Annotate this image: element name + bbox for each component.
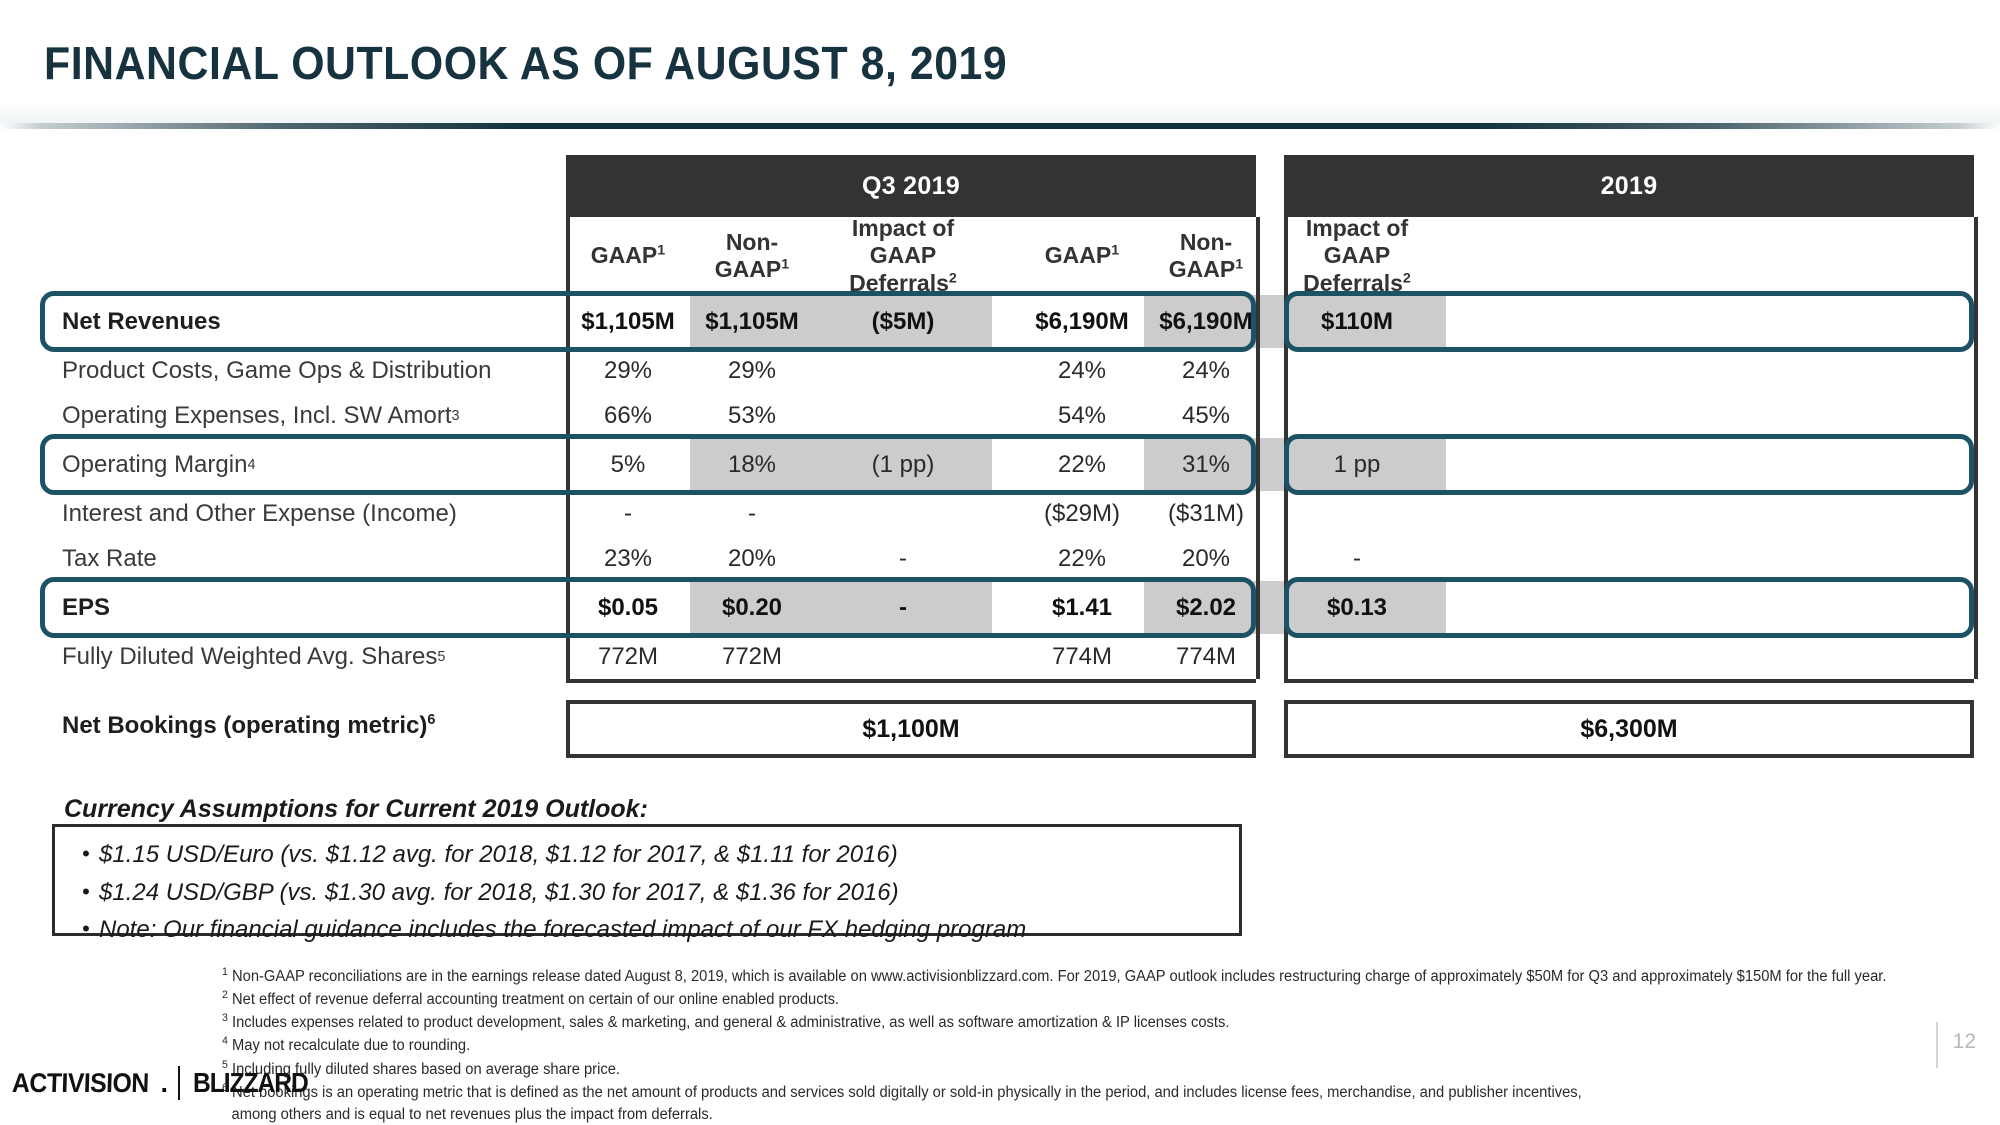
currency-assumption-text: Note: Our financial guidance includes th… [99, 914, 1026, 946]
page-number: 12 [1953, 1030, 1976, 1054]
net-bookings-label-text: Net Bookings (operating metric) [62, 712, 427, 739]
group-header-q3: Q3 2019 [566, 155, 1256, 217]
cell-q3-nongaap: 18% [690, 438, 814, 491]
cell-fy-impact: $110M [1268, 295, 1446, 348]
footnote-marker: 2 [222, 989, 228, 1001]
footnote-text: among others and is equal to net revenue… [232, 1106, 713, 1123]
cell-q3-nongaap: 772M [690, 634, 814, 679]
column-divider-fy-right [1974, 217, 1978, 679]
footnote-line: 2 Net effect of revenue deferral account… [222, 988, 1837, 1011]
row-label: Operating Margin4 [40, 438, 566, 491]
sub-header-q3-gaap-text: GAAP [591, 242, 657, 268]
logo-separator [178, 1066, 180, 1100]
group-header-gap [1256, 155, 1284, 217]
sub-header-q3-gaap-sup: 1 [657, 243, 665, 259]
footnote-line: among others and is equal to net revenue… [222, 1104, 1837, 1125]
sub-header-fy-nongaap-text: Non-GAAP [1169, 229, 1235, 282]
footnote-line: 1 Non-GAAP reconciliations are in the ea… [222, 965, 1837, 988]
cell-fy-impact [1268, 491, 1446, 536]
footnote-text: Net bookings is an operating metric that… [232, 1084, 1582, 1101]
group-header-fy: 2019 [1284, 155, 1974, 217]
row-gap [992, 581, 1020, 634]
cell-fy-gaap: ($29M) [1020, 491, 1144, 536]
page-title: FINANCIAL OUTLOOK AS OF AUGUST 8, 2019 [44, 36, 1007, 90]
footnote-line: 4 May not recalculate due to rounding. [222, 1034, 1837, 1057]
footnote-marker: 3 [222, 1012, 228, 1024]
table-group-header-row: Q3 2019 2019 [40, 155, 1960, 217]
currency-assumptions-box: •$1.15 USD/Euro (vs. $1.12 avg. for 2018… [52, 824, 1242, 936]
net-bookings-row: Net Bookings (operating metric)6 $1,100M… [40, 700, 1960, 760]
cell-q3-impact: - [814, 536, 992, 581]
bullet-icon: • [73, 877, 99, 906]
sub-header-fy-nongaap-sup: 1 [1235, 256, 1243, 272]
cell-q3-impact [814, 634, 992, 679]
sub-header-fy-gaap: GAAP1 [1020, 217, 1144, 295]
footnote-text: Non-GAAP reconciliations are in the earn… [232, 968, 1886, 985]
row-gap [992, 348, 1020, 393]
currency-assumption-item: •Note: Our financial guidance includes t… [55, 914, 1239, 946]
table-bottom-rule-q3 [566, 679, 1256, 683]
cell-fy-impact: $0.13 [1268, 581, 1446, 634]
cell-fy-impact [1268, 393, 1446, 438]
cell-fy-impact: 1 pp [1268, 438, 1446, 491]
sub-header-q3-nongaap: Non-GAAP1 [690, 217, 814, 295]
cell-q3-nongaap: $1,105M [690, 295, 814, 348]
footnote-marker: 1 [222, 966, 228, 978]
logo-blizzard-text: BLIZZARD [193, 1067, 308, 1099]
net-bookings-label: Net Bookings (operating metric)6 [62, 712, 435, 740]
row-gap [992, 295, 1020, 348]
table-row: Tax Rate23%20%-22%20%- [40, 536, 1960, 581]
cell-q3-gaap: - [566, 491, 690, 536]
cell-fy-gaap: 22% [1020, 536, 1144, 581]
row-gap [992, 634, 1020, 679]
cell-q3-gaap: $1,105M [566, 295, 690, 348]
table-row: Net Revenues$1,105M$1,105M($5M)$6,190M$6… [40, 295, 1960, 348]
group-header-spacer [40, 155, 566, 217]
row-label: EPS [40, 581, 566, 634]
sub-header-fy-nongaap: Non-GAAP1 [1144, 217, 1268, 295]
row-label: Interest and Other Expense (Income) [40, 491, 566, 536]
row-gap [992, 536, 1020, 581]
cell-fy-gaap: $6,190M [1020, 295, 1144, 348]
activision-blizzard-logo: ACTIVISION . BLIZZARD [12, 1063, 323, 1103]
table-row: EPS$0.05$0.20-$1.41$2.02$0.13 [40, 581, 1960, 634]
currency-assumption-text: $1.24 USD/GBP (vs. $1.30 avg. for 2018, … [99, 877, 899, 909]
cell-q3-impact [814, 348, 992, 393]
row-gap [992, 393, 1020, 438]
cell-fy-nongaap: 31% [1144, 438, 1268, 491]
row-label: Product Costs, Game Ops & Distribution [40, 348, 566, 393]
column-divider-q3-left [566, 217, 570, 679]
sub-header-gap [992, 217, 1020, 295]
cell-fy-impact [1268, 348, 1446, 393]
sub-header-fy-impact-sup: 2 [1403, 270, 1411, 286]
footnote-line: 6 Net bookings is an operating metric th… [222, 1081, 1837, 1104]
page-number-divider [1936, 1022, 1938, 1068]
footnote-text: May not recalculate due to rounding. [232, 1038, 470, 1055]
table-bottom-rule-fy [1284, 679, 1974, 683]
cell-fy-gaap: $1.41 [1020, 581, 1144, 634]
sub-header-q3-nongaap-text: Non-GAAP [715, 229, 781, 282]
cell-q3-gaap: 29% [566, 348, 690, 393]
row-label: Operating Expenses, Incl. SW Amort3 [40, 393, 566, 438]
footnote-marker: 4 [222, 1035, 228, 1047]
cell-q3-impact: (1 pp) [814, 438, 992, 491]
footnotes: 1 Non-GAAP reconciliations are in the ea… [222, 965, 1922, 1125]
column-divider-fy-left [1284, 217, 1288, 679]
cell-q3-nongaap: - [690, 491, 814, 536]
table-row: Product Costs, Game Ops & Distribution29… [40, 348, 1960, 393]
sub-header-fy-gaap-text: GAAP [1045, 242, 1111, 268]
cell-fy-gaap: 24% [1020, 348, 1144, 393]
currency-assumptions-title: Currency Assumptions for Current 2019 Ou… [64, 795, 648, 824]
currency-assumption-item: •$1.24 USD/GBP (vs. $1.30 avg. for 2018,… [55, 877, 1239, 909]
table-sub-header-row: GAAP1 Non-GAAP1 Impact of GAAPDeferrals2… [40, 217, 1960, 295]
cell-q3-impact [814, 393, 992, 438]
cell-fy-impact [1268, 634, 1446, 679]
logo-activision-text: ACTIVISION [12, 1068, 150, 1099]
sub-header-spacer [40, 217, 566, 295]
table-body: Net Revenues$1,105M$1,105M($5M)$6,190M$6… [40, 295, 1960, 679]
cell-fy-nongaap: $2.02 [1144, 581, 1268, 634]
cell-q3-impact: ($5M) [814, 295, 992, 348]
cell-q3-nongaap: 20% [690, 536, 814, 581]
net-bookings-q3-value: $1,100M [566, 700, 1256, 758]
net-bookings-label-sup: 6 [427, 712, 435, 728]
net-bookings-fy-value: $6,300M [1284, 700, 1974, 758]
cell-q3-gaap: 5% [566, 438, 690, 491]
sub-header-q3-gaap: GAAP1 [566, 217, 690, 295]
row-gap [992, 438, 1020, 491]
cell-fy-nongaap: 45% [1144, 393, 1268, 438]
footnote-line: 3 Includes expenses related to product d… [222, 1011, 1837, 1034]
sub-header-fy-impact-l1: Impact of GAAP [1306, 215, 1408, 268]
cell-fy-nongaap: 774M [1144, 634, 1268, 679]
table-row: Operating Margin45%18%(1 pp)22%31%1 pp [40, 438, 1960, 491]
cell-q3-nongaap: $0.20 [690, 581, 814, 634]
sub-header-fy-gaap-sup: 1 [1111, 243, 1119, 259]
title-divider [0, 123, 2000, 129]
row-gap [992, 491, 1020, 536]
row-label: Fully Diluted Weighted Avg. Shares5 [40, 634, 566, 679]
sub-header-q3-impact-sup: 2 [949, 270, 957, 286]
financial-outlook-table: Q3 2019 2019 GAAP1 Non-GAAP1 Impact of G… [40, 155, 1960, 679]
cell-fy-gaap: 54% [1020, 393, 1144, 438]
sub-header-q3-nongaap-sup: 1 [781, 256, 789, 272]
table-row: Operating Expenses, Incl. SW Amort366%53… [40, 393, 1960, 438]
footnote-text: Net effect of revenue deferral accountin… [232, 991, 839, 1008]
sub-header-fy-impact: Impact of GAAPDeferrals2 [1268, 217, 1446, 295]
sub-header-q3-impact-l2: Deferrals [849, 270, 949, 296]
table-row: Fully Diluted Weighted Avg. Shares5772M7… [40, 634, 1960, 679]
bullet-icon: • [73, 839, 99, 868]
row-label: Tax Rate [40, 536, 566, 581]
sub-header-q3-impact-l1: Impact of GAAP [852, 215, 954, 268]
cell-q3-nongaap: 29% [690, 348, 814, 393]
cell-fy-nongaap: ($31M) [1144, 491, 1268, 536]
table-row: Interest and Other Expense (Income)--($2… [40, 491, 1960, 536]
cell-q3-gaap: 772M [566, 634, 690, 679]
currency-assumption-text: $1.15 USD/Euro (vs. $1.12 avg. for 2018,… [99, 839, 898, 871]
column-divider-q3-right [1256, 217, 1260, 679]
slide-root: FINANCIAL OUTLOOK AS OF AUGUST 8, 2019 Q… [0, 0, 2000, 1125]
sub-header-q3-impact: Impact of GAAPDeferrals2 [814, 217, 992, 295]
cell-fy-nongaap: 24% [1144, 348, 1268, 393]
currency-assumption-item: •$1.15 USD/Euro (vs. $1.12 avg. for 2018… [55, 839, 1239, 871]
logo-dot: . [161, 1068, 169, 1099]
footnote-line: 5 Including fully diluted shares based o… [222, 1058, 1837, 1081]
footnote-text: Includes expenses related to product dev… [232, 1014, 1229, 1031]
cell-q3-impact: - [814, 581, 992, 634]
cell-fy-gaap: 22% [1020, 438, 1144, 491]
sub-header-fy-impact-l2: Deferrals [1303, 270, 1403, 296]
cell-fy-nongaap: $6,190M [1144, 295, 1268, 348]
cell-q3-impact [814, 491, 992, 536]
cell-fy-nongaap: 20% [1144, 536, 1268, 581]
cell-q3-nongaap: 53% [690, 393, 814, 438]
row-label: Net Revenues [40, 295, 566, 348]
cell-q3-gaap: 23% [566, 536, 690, 581]
cell-fy-impact: - [1268, 536, 1446, 581]
bullet-icon: • [73, 914, 99, 943]
cell-q3-gaap: $0.05 [566, 581, 690, 634]
title-rule-fade [0, 100, 2000, 123]
cell-fy-gaap: 774M [1020, 634, 1144, 679]
cell-q3-gaap: 66% [566, 393, 690, 438]
